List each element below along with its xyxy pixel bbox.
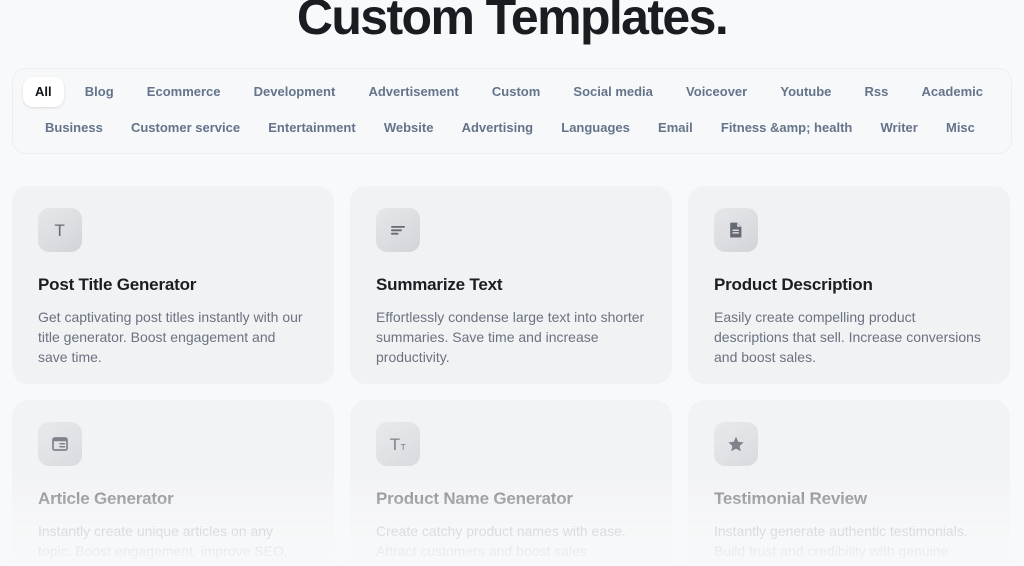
template-card-icon: Tт [376, 422, 420, 466]
template-card-description: Instantly create unique articles on any … [38, 521, 308, 566]
template-card[interactable]: Testimonial ReviewInstantly generate aut… [688, 400, 1010, 566]
template-card-title: Product Name Generator [376, 488, 646, 510]
template-card-description: Get captivating post titles instantly wi… [38, 307, 308, 367]
template-card-title: Summarize Text [376, 274, 646, 296]
templates-grid: TPost Title GeneratorGet captivating pos… [0, 186, 1024, 566]
template-card-title: Testimonial Review [714, 488, 984, 510]
template-card-icon: T [38, 208, 82, 252]
template-card-description: Instantly generate authentic testimonial… [714, 521, 984, 566]
template-card-description: Easily create compelling product descrip… [714, 307, 984, 367]
filter-tab-custom[interactable]: Custom [480, 77, 552, 107]
filter-tab-customer-service[interactable]: Customer service [119, 113, 252, 143]
category-filter-row-2: BusinessCustomer serviceEntertainmentWeb… [23, 107, 1001, 143]
template-card-icon [376, 208, 420, 252]
filter-tab-blog[interactable]: Blog [73, 77, 126, 107]
filter-tab-business[interactable]: Business [33, 113, 115, 143]
align-left-icon [388, 220, 408, 240]
category-filter-panel: AllBlogEcommerceDevelopmentAdvertisement… [12, 68, 1012, 154]
filter-tab-academic[interactable]: Academic [910, 77, 995, 107]
template-card-icon [714, 422, 758, 466]
template-card[interactable]: TPost Title GeneratorGet captivating pos… [12, 186, 334, 384]
star-icon [726, 434, 746, 454]
template-card-title: Post Title Generator [38, 274, 308, 296]
filter-tab-fitness-amp-health[interactable]: Fitness &amp; health [709, 113, 864, 143]
template-card-icon [714, 208, 758, 252]
category-filter-row-1: AllBlogEcommerceDevelopmentAdvertisement… [23, 77, 1001, 107]
page-title: Custom Templates. [0, 0, 1024, 48]
template-card-title: Article Generator [38, 488, 308, 510]
letter-t-icon: T [55, 222, 66, 239]
template-card[interactable]: Product DescriptionEasily create compell… [688, 186, 1010, 384]
template-card[interactable]: Summarize TextEffortlessly condense larg… [350, 186, 672, 384]
filter-tab-social-media[interactable]: Social media [561, 77, 664, 107]
template-card-description: Create catchy product names with ease. A… [376, 521, 646, 566]
filter-tab-advertisement[interactable]: Advertisement [356, 77, 470, 107]
template-card-icon [38, 422, 82, 466]
filter-tab-rss[interactable]: Rss [853, 77, 901, 107]
layout-icon [50, 434, 70, 454]
document-icon [726, 220, 746, 240]
templates-grid-viewport: TPost Title GeneratorGet captivating pos… [0, 186, 1024, 566]
template-card[interactable]: Article GeneratorInstantly create unique… [12, 400, 334, 566]
template-card-title: Product Description [714, 274, 984, 296]
filter-tab-misc[interactable]: Misc [934, 113, 987, 143]
filter-tab-email[interactable]: Email [646, 113, 705, 143]
template-card[interactable]: TтProduct Name GeneratorCreate catchy pr… [350, 400, 672, 566]
text-size-icon: Tт [390, 436, 406, 453]
filter-tab-development[interactable]: Development [242, 77, 348, 107]
filter-tab-website[interactable]: Website [372, 113, 446, 143]
filter-tab-all[interactable]: All [23, 77, 64, 107]
templates-page: Custom Templates. AllBlogEcommerceDevelo… [0, 0, 1024, 566]
filter-tab-ecommerce[interactable]: Ecommerce [135, 77, 233, 107]
filter-tab-advertising[interactable]: Advertising [450, 113, 546, 143]
filter-tab-languages[interactable]: Languages [549, 113, 642, 143]
filter-tab-youtube[interactable]: Youtube [768, 77, 843, 107]
filter-tab-entertainment[interactable]: Entertainment [256, 113, 367, 143]
filter-tab-writer[interactable]: Writer [869, 113, 930, 143]
template-card-description: Effortlessly condense large text into sh… [376, 307, 646, 367]
filter-tab-voiceover[interactable]: Voiceover [674, 77, 759, 107]
